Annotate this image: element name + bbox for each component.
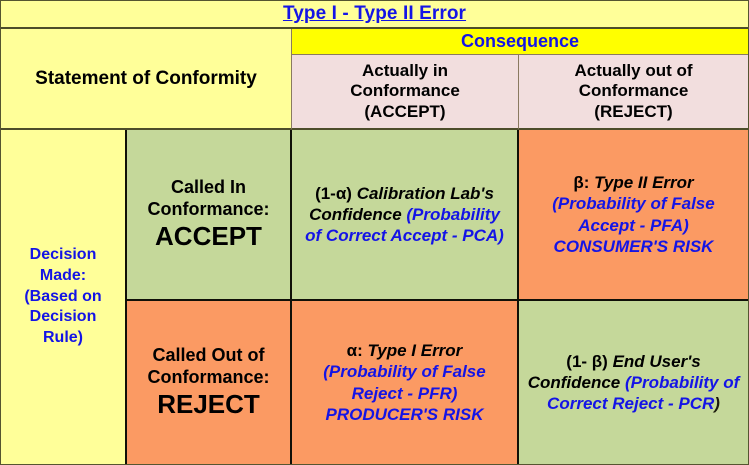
cell-type-ii-error-text: β: Type II Error (Probability of False A… [526,172,741,256]
column-header-label: Actually in Conformance (ACCEPT) [350,61,460,121]
closing-paren: ) [714,394,720,413]
cell-correct-reject: (1- β) End User's Confidence (Probabilit… [519,301,748,464]
reject-keyword: REJECT [147,389,269,420]
symbol-beta: β: [573,173,594,192]
probability-false-reject-text: (Probability of False Reject - PFR) PROD… [323,362,485,423]
called-out-of-conformance-label: Called Out of Conformance: REJECT [147,323,269,441]
decision-made-label: Decision Made: (Based on Decision Rule) [24,245,101,349]
called-in-conformance-text: Called In Conformance: [147,177,269,219]
column-header-actually-in-conformance: Actually in Conformance (ACCEPT) [292,55,519,130]
called-in-conformance-label: Called In Conformance: ACCEPT [147,155,269,273]
cell-type-i-error-text: α: Type I Error (Probability of False Re… [299,340,510,424]
cell-correct-reject-text: (1- β) End User's Confidence (Probabilit… [526,351,741,414]
type-i-type-ii-error-matrix: Type I - Type II Error Statement of Conf… [0,0,749,465]
decision-made-row-label: Decision Made: (Based on Decision Rule) [1,130,127,464]
consequence-label: Consequence [461,31,579,52]
statement-of-conformity-header: Statement of Conformity [1,29,292,130]
cell-correct-accept: (1-α) Calibration Lab's Confidence (Prob… [292,130,519,301]
called-out-of-conformance-text: Called Out of Conformance: [147,345,269,387]
cell-type-ii-error: β: Type II Error (Probability of False A… [519,130,748,301]
cell-type-i-error: α: Type I Error (Probability of False Re… [292,301,519,464]
statement-of-conformity-label: Statement of Conformity [35,68,257,90]
column-header-actually-out-of-conformance: Actually out of Conformance (REJECT) [519,55,748,130]
table-row-reject-label: Called Out of Conformance: REJECT [127,301,292,464]
symbol-one-minus-beta: (1- β) [566,352,612,371]
type-ii-error-text: Type II Error [594,173,694,192]
symbol-one-minus-alpha: (1-α) [315,184,357,203]
cell-correct-accept-text: (1-α) Calibration Lab's Confidence (Prob… [299,183,510,246]
probability-false-accept-text: (Probability of False Accept - PFA) CONS… [552,194,714,255]
page-title: Type I - Type II Error [283,3,466,25]
consequence-header: Consequence [292,29,748,55]
accept-keyword: ACCEPT [147,221,269,252]
matrix-title-bar: Type I - Type II Error [1,1,748,29]
table-row-accept-label: Called In Conformance: ACCEPT [127,130,292,301]
symbol-alpha: α: [347,341,368,360]
type-i-error-text: Type I Error [368,341,463,360]
column-header-label: Actually out of Conformance (REJECT) [574,61,692,121]
